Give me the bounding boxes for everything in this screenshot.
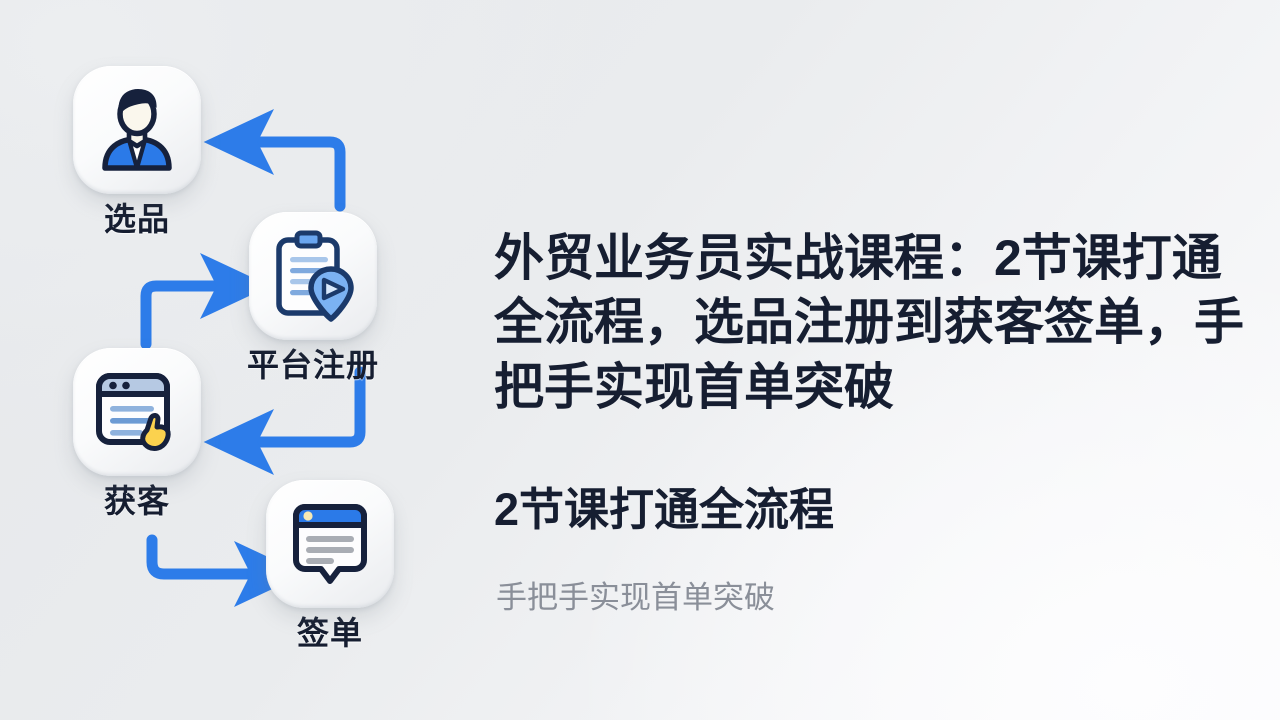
- workflow-node-label: 选品: [62, 203, 212, 235]
- speech-card-icon: [284, 498, 376, 590]
- page-title: 外贸业务员实战课程：2节课打通全流程，选品注册到获客签单，手把手实现首单突破: [494, 226, 1254, 420]
- subtitle: 2节课打通全流程: [494, 485, 834, 535]
- workflow-node-label: 平台注册: [238, 349, 388, 381]
- workflow-diagram: 选品: [0, 0, 470, 720]
- workflow-node-huoke[interactable]: 获客: [62, 348, 212, 517]
- clipboard-location-icon: [266, 229, 360, 323]
- text-content-panel: 外贸业务员实战课程：2节课打通全流程，选品注册到获客签单，手把手实现首单突破 2…: [494, 0, 1264, 720]
- workflow-node-xuanpin[interactable]: 选品: [62, 66, 212, 235]
- caption-text: 手把手实现首单突破: [496, 579, 775, 616]
- arrow-huoke-to-pingtai: [146, 286, 222, 344]
- slide-canvas: 选品: [0, 0, 1280, 720]
- workflow-node-pingtai[interactable]: 平台注册: [238, 212, 388, 381]
- workflow-tile-pingtai[interactable]: [249, 212, 377, 340]
- arrow-huoke-to-qiandan: [152, 540, 256, 574]
- arrow-pingtai-to-xuanpin: [252, 142, 340, 206]
- workflow-tile-xuanpin[interactable]: [73, 66, 201, 194]
- workflow-tile-huoke[interactable]: [73, 348, 201, 476]
- workflow-node-label: 获客: [62, 485, 212, 517]
- workflow-node-qiandan[interactable]: 签单: [255, 480, 405, 649]
- workflow-tile-qiandan[interactable]: [266, 480, 394, 608]
- businessman-icon: [91, 84, 183, 176]
- browser-cursor-icon: [91, 366, 183, 458]
- workflow-node-label: 签单: [255, 617, 405, 649]
